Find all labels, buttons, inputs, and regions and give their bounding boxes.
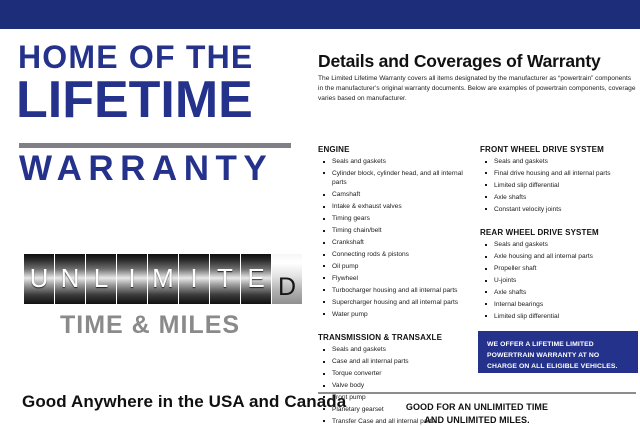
- details-panel: Details and Coverages of Warranty The Li…: [310, 29, 640, 426]
- coverage-list-item: Cylinder block, cylinder head, and all i…: [318, 169, 478, 188]
- footer-note: GOOD FOR AN UNLIMITED TIME AND UNLIMITED…: [318, 401, 636, 426]
- coverage-region-tagline: Good Anywhere in the USA and Canada: [22, 392, 346, 412]
- odometer-graphic: UNLIMITED: [24, 254, 302, 304]
- coverage-column-left: ENGINESeals and gasketsCylinder block, c…: [318, 145, 478, 426]
- odometer-cell-char: U: [30, 265, 49, 291]
- headline-warranty: WARRANTY: [19, 151, 304, 186]
- footer-line-2: AND UNLIMITED MILES.: [318, 414, 636, 426]
- odometer-cell-char: E: [247, 265, 264, 291]
- odometer-cell: I: [117, 254, 147, 304]
- odometer-cell: N: [55, 254, 85, 304]
- coverage-list-item: Seals and gaskets: [480, 157, 638, 166]
- coverage-list-item: Timing chain/belt: [318, 226, 478, 235]
- coverage-list-item: Oil pump: [318, 262, 478, 271]
- warranty-infographic: HOME OF THE LIFETIME WARRANTY UNLIMITED …: [0, 0, 640, 426]
- coverage-list-item: Turbocharger housing and all internal pa…: [318, 286, 478, 295]
- odometer-cell-char: T: [217, 265, 233, 291]
- coverage-list-item: Flywheel: [318, 274, 478, 283]
- coverage-section: REAR WHEEL DRIVE SYSTEMSeals and gaskets…: [480, 228, 638, 321]
- odometer-cell: L: [86, 254, 116, 304]
- coverage-list-item: Intake & exhaust valves: [318, 202, 478, 211]
- coverage-list-item: Seals and gaskets: [480, 240, 638, 249]
- footer-divider-rule: [318, 392, 636, 394]
- coverage-section: FRONT WHEEL DRIVE SYSTEMSeals and gasket…: [480, 145, 638, 214]
- coverage-list-item: U-joints: [480, 276, 638, 285]
- coverage-item-list: Seals and gasketsFinal drive housing and…: [480, 157, 638, 214]
- odometer-cell: D: [272, 254, 302, 304]
- headline-divider-rule: [19, 143, 291, 148]
- coverage-list-item: Internal bearings: [480, 300, 638, 309]
- odometer-cell: M: [148, 254, 178, 304]
- headline-home-of-the: HOME OF THE: [18, 41, 298, 73]
- odometer-cell: T: [210, 254, 240, 304]
- coverage-list-item: Axle shafts: [480, 193, 638, 202]
- coverage-item-list: Seals and gasketsCylinder block, cylinde…: [318, 157, 478, 319]
- intro-paragraph: The Limited Lifetime Warranty covers all…: [318, 74, 636, 105]
- odometer-cell: E: [241, 254, 271, 304]
- coverage-list-item: Torque converter: [318, 369, 478, 378]
- coverage-list-item: Axle shafts: [480, 288, 638, 297]
- coverage-list-item: Camshaft: [318, 190, 478, 199]
- coverage-list-item: Propeller shaft: [480, 264, 638, 273]
- coverage-column-right: FRONT WHEEL DRIVE SYSTEMSeals and gasket…: [480, 145, 638, 324]
- callout-box: WE OFFER A LIFETIME LIMITED POWERTRAIN W…: [478, 331, 638, 373]
- odometer-cell-char: N: [61, 265, 80, 291]
- odometer-cell-char: M: [152, 265, 174, 291]
- coverage-list-item: Seals and gaskets: [318, 157, 478, 166]
- coverage-list-item: Valve body: [318, 381, 478, 390]
- coverage-list-item: Case and all internal parts: [318, 357, 478, 366]
- page-title: Details and Coverages of Warranty: [318, 51, 601, 72]
- coverage-item-list: Seals and gasketsAxle housing and all in…: [480, 240, 638, 321]
- coverage-list-item: Axle housing and all internal parts: [480, 252, 638, 261]
- coverage-list-item: Limited slip differential: [480, 312, 638, 321]
- odometer-cell-char: L: [94, 265, 108, 291]
- headline-lifetime: LIFETIME: [16, 74, 306, 126]
- coverage-list-item: Connecting rods & pistons: [318, 250, 478, 259]
- coverage-list-item: Limited slip differential: [480, 181, 638, 190]
- coverage-list-item: Constant velocity joints: [480, 205, 638, 214]
- time-and-miles-label: TIME & MILES: [60, 311, 240, 340]
- odometer-cell-char: I: [190, 265, 197, 291]
- odometer-cell: U: [24, 254, 54, 304]
- coverage-list-item: Water pump: [318, 310, 478, 319]
- coverage-list-item: Seals and gaskets: [318, 345, 478, 354]
- coverage-list-item: Supercharger housing and all internal pa…: [318, 298, 478, 307]
- callout-text: WE OFFER A LIFETIME LIMITED POWERTRAIN W…: [478, 331, 638, 380]
- footer-line-1: GOOD FOR AN UNLIMITED TIME: [318, 401, 636, 414]
- top-blue-band: [0, 0, 640, 29]
- coverage-list-item: Final drive housing and all internal par…: [480, 169, 638, 178]
- odometer-cell-char: I: [128, 265, 135, 291]
- coverage-section-title: FRONT WHEEL DRIVE SYSTEM: [480, 145, 638, 154]
- coverage-section-title: ENGINE: [318, 145, 478, 154]
- odometer-cell: I: [179, 254, 209, 304]
- coverage-section-title: REAR WHEEL DRIVE SYSTEM: [480, 228, 638, 237]
- odometer-cell-char: D: [278, 275, 296, 300]
- coverage-list-item: Timing gears: [318, 214, 478, 223]
- coverage-section: ENGINESeals and gasketsCylinder block, c…: [318, 145, 478, 319]
- left-hero-panel: HOME OF THE LIFETIME WARRANTY UNLIMITED …: [0, 29, 310, 426]
- coverage-section-title: TRANSMISSION & TRANSAXLE: [318, 333, 478, 342]
- coverage-list-item: Crankshaft: [318, 238, 478, 247]
